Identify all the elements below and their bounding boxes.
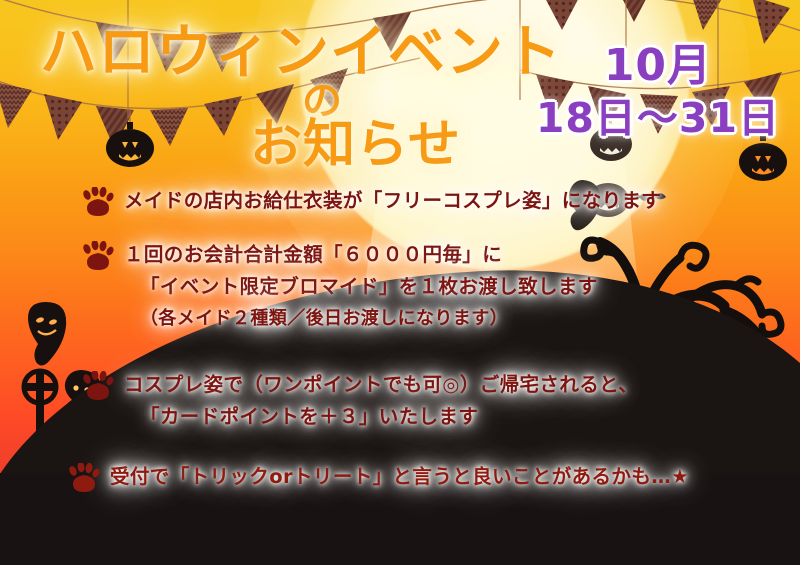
bullet-text: コスプレ姿で（ワンポイントでも可◎）ご帰宅されると、 bbox=[124, 369, 800, 401]
bullet-text: （各メイド２種類／後日お渡しになります） bbox=[140, 303, 800, 335]
bullet-item: 受付で「トリックorトリート」と言うと良いことがあるかも…★ bbox=[0, 461, 800, 493]
paw-print-icon bbox=[80, 241, 116, 271]
title-line-3: お知らせ bbox=[250, 118, 560, 172]
halloween-poster: ハロウィンイベント の お知らせ 10月 18日〜31日 bbox=[0, 0, 800, 565]
paw-print-icon bbox=[66, 463, 102, 493]
bullet-text: １回のお会計合計金額「６０００円毎」に bbox=[124, 239, 800, 271]
event-date: 10月 18日〜31日 bbox=[536, 40, 780, 144]
paw-print-icon bbox=[80, 371, 116, 401]
bullet-text: 受付で「トリックorトリート」と言うと良いことがあるかも…★ bbox=[110, 461, 800, 493]
event-date-range: 18日〜31日 bbox=[536, 92, 780, 144]
bullet-text: 「イベント限定ブロマイド」を１枚お渡し致します bbox=[140, 271, 800, 303]
paw-print-icon bbox=[80, 187, 116, 217]
poster-title: ハロウィンイベント の お知らせ bbox=[40, 22, 560, 172]
bullet-list: メイドの店内お給仕衣装が「フリーコスプレ姿」になります １回のお会計合計金額「６… bbox=[0, 185, 800, 507]
bullet-text: 「カードポイントを＋３」いたします bbox=[140, 401, 800, 433]
bullet-text: メイドの店内お給仕衣装が「フリーコスプレ姿」になります bbox=[124, 185, 800, 217]
bullet-item: １回のお会計合計金額「６０００円毎」に 「イベント限定ブロマイド」を１枚お渡し致… bbox=[0, 239, 800, 335]
title-line-1: ハロウィンイベント bbox=[40, 22, 560, 82]
event-month: 10月 bbox=[536, 40, 780, 92]
bullet-item: コスプレ姿で（ワンポイントでも可◎）ご帰宅されると、 「カードポイントを＋３」い… bbox=[0, 369, 800, 433]
bullet-item: メイドの店内お給仕衣装が「フリーコスプレ姿」になります bbox=[0, 185, 800, 217]
